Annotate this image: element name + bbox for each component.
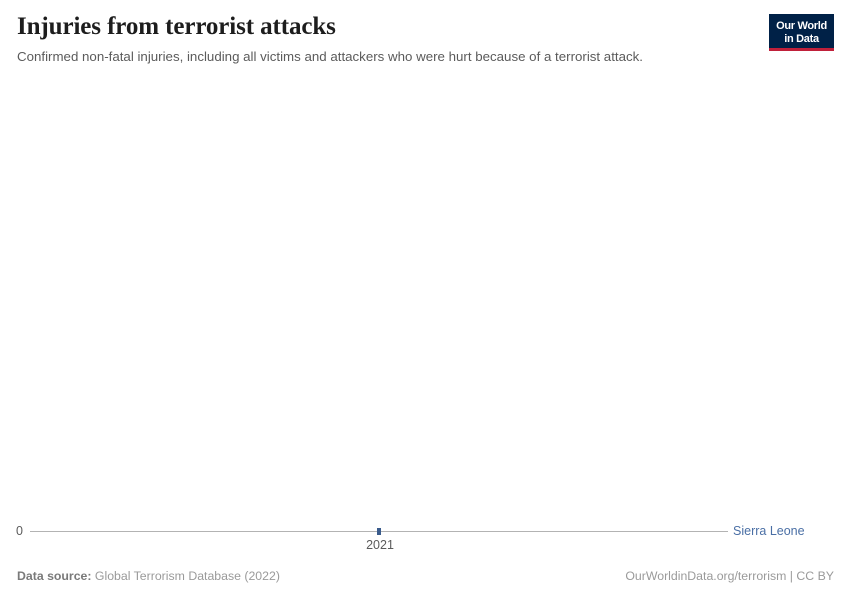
y-axis-tick-label-0: 0: [16, 524, 23, 538]
plot-area: [30, 86, 728, 531]
logo-accent-bar: [769, 48, 834, 51]
logo-text-line-1: Our World: [776, 20, 827, 33]
footer-source: Data source: Global Terrorism Database (…: [17, 569, 280, 584]
our-world-in-data-logo[interactable]: Our World in Data: [769, 14, 834, 51]
footer-attribution[interactable]: OurWorldinData.org/terrorism | CC BY: [625, 569, 834, 584]
x-axis-tick-label-2021: 2021: [362, 538, 398, 552]
series-legend-label[interactable]: Sierra Leone: [733, 524, 805, 538]
logo-text-line-2: in Data: [784, 33, 819, 46]
chart-plot-region: 0 2021 Sierra Leone: [0, 86, 850, 556]
chart-subtitle: Confirmed non-fatal injuries, including …: [17, 48, 757, 65]
data-point-marker[interactable]: [377, 528, 381, 535]
chart-footer: Data source: Global Terrorism Database (…: [17, 569, 834, 584]
footer-source-label: Data source:: [17, 569, 92, 583]
footer-source-value: Global Terrorism Database (2022): [95, 569, 280, 583]
chart-header: Injuries from terrorist attacks Confirme…: [17, 12, 757, 65]
chart-title: Injuries from terrorist attacks: [17, 12, 757, 42]
